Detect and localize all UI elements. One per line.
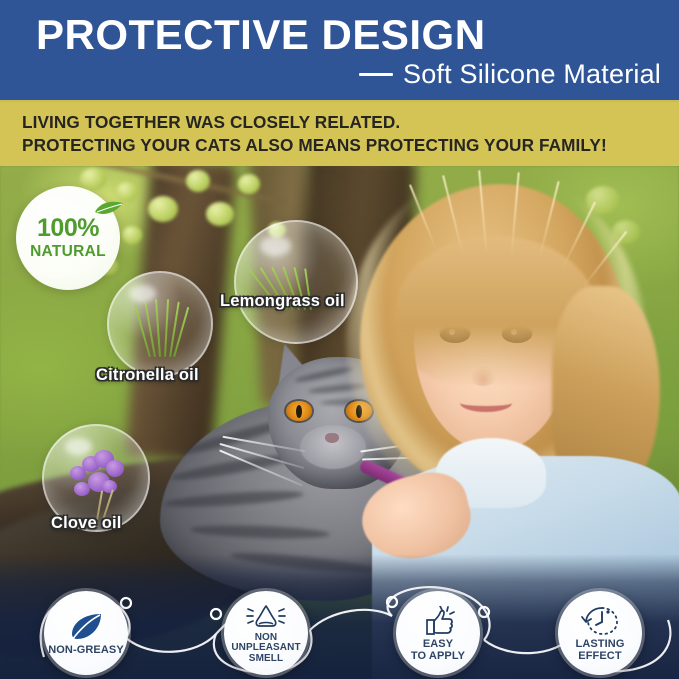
em-dash-icon bbox=[359, 73, 393, 76]
blossom bbox=[186, 170, 210, 192]
citronella-stalks-icon bbox=[164, 299, 169, 357]
blossom bbox=[206, 202, 234, 226]
natural-word: NATURAL bbox=[30, 244, 106, 260]
lemongrass-bubble bbox=[234, 220, 358, 344]
feature-badge-non-unpleasant-smell[interactable]: NON UNPLEASANT SMELL bbox=[224, 591, 308, 675]
feature-label: TO APPLY bbox=[411, 651, 465, 663]
blossom bbox=[122, 226, 142, 244]
blossom bbox=[238, 174, 260, 194]
oil-label-citronella: Citronella oil bbox=[96, 366, 199, 385]
girl-mouth bbox=[460, 394, 512, 412]
leaf-icon bbox=[94, 200, 124, 218]
blossom bbox=[148, 196, 178, 222]
header-subtitle: Soft Silicone Material bbox=[403, 59, 661, 90]
tagline-line-2: PROTECTING YOUR CATS ALSO MEANS PROTECTI… bbox=[22, 134, 679, 157]
hero-photo: 100% NATURAL Lemongrass oil Citro bbox=[0, 166, 679, 679]
feature-badge-non-greasy[interactable]: NON-GREASY bbox=[44, 591, 128, 675]
tagline-line-1: LIVING TOGETHER WAS CLOSELY RELATED. bbox=[22, 111, 679, 134]
oil-label-clove: Clove oil bbox=[51, 514, 122, 533]
header-banner: PROTECTIVE DESIGN Soft Silicone Material bbox=[0, 0, 679, 100]
citronella-bubble bbox=[107, 271, 213, 377]
feature-label: SMELL bbox=[249, 654, 283, 665]
feature-label: NON-GREASY bbox=[48, 645, 124, 657]
feature-badge-easy-to-apply[interactable]: EASY TO APPLY bbox=[396, 591, 480, 675]
thumbs-up-icon bbox=[419, 606, 457, 636]
clove-flower-icon bbox=[106, 460, 124, 477]
clove-flower-icon bbox=[74, 482, 90, 496]
cat-pupil bbox=[296, 405, 302, 418]
feature-badge-lasting-effect[interactable]: LASTING EFFECT bbox=[558, 591, 642, 675]
cat-eye bbox=[286, 401, 312, 421]
blossom bbox=[80, 168, 106, 190]
feature-label: EASY bbox=[423, 639, 453, 651]
clock-arrow-icon bbox=[580, 606, 620, 636]
feature-label: LASTING bbox=[576, 639, 625, 651]
page-title: PROTECTIVE DESIGN bbox=[36, 14, 486, 56]
blossom bbox=[116, 182, 138, 202]
product-infographic: PROTECTIVE DESIGN Soft Silicone Material… bbox=[0, 0, 679, 679]
header-subtitle-group: Soft Silicone Material bbox=[359, 59, 661, 90]
feature-label: EFFECT bbox=[578, 651, 621, 663]
tagline-banner: LIVING TOGETHER WAS CLOSELY RELATED. PRO… bbox=[0, 100, 679, 166]
natural-badge: 100% NATURAL bbox=[16, 186, 120, 290]
cat-nose bbox=[325, 433, 339, 443]
leaf-feather-icon bbox=[68, 612, 104, 642]
natural-percent: 100% bbox=[37, 216, 99, 241]
nose-icon bbox=[245, 604, 287, 630]
oil-label-lemongrass: Lemongrass oil bbox=[220, 292, 345, 311]
clove-flower-icon bbox=[102, 480, 117, 493]
cat-forehead-stripe bbox=[294, 365, 354, 384]
citronella-stalks-icon bbox=[155, 299, 161, 357]
